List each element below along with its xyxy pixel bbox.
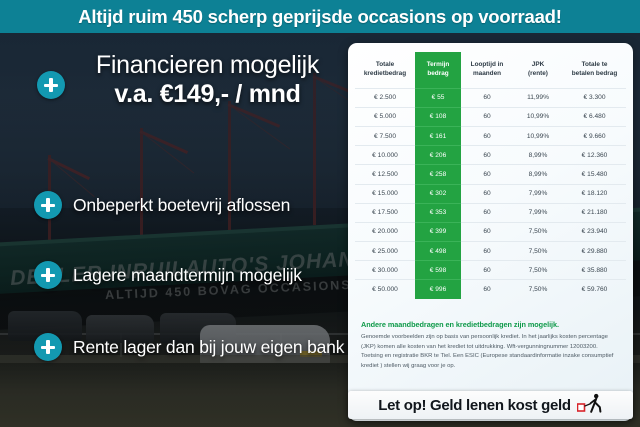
table-cell: 7,50% [513, 242, 563, 261]
table-cell: € 30.000 [355, 261, 415, 280]
table-column-header: Totale tebetalen bedrag [563, 52, 626, 88]
table-cell: € 302 [415, 184, 461, 203]
table-row: € 50.000€ 996607,50%€ 59.760 [355, 280, 626, 299]
benefit-label: Rente lager dan bij jouw eigen bank [73, 337, 344, 358]
table-cell: € 9.660 [563, 126, 626, 145]
table-cell: 60 [461, 280, 513, 299]
headline-line-1: Financieren mogelijk [70, 51, 345, 79]
table-cell: € 10.000 [355, 146, 415, 165]
headline-block: Financieren mogelijk v.a. €149,- / mnd [70, 51, 345, 110]
table-cell: 60 [461, 242, 513, 261]
table-cell: 60 [461, 203, 513, 222]
table-cell: € 5.000 [355, 107, 415, 126]
table-row: € 5.000€ 1086010,99%€ 6.480 [355, 107, 626, 126]
loan-warning-text: Let op! Geld lenen kost geld [378, 397, 570, 414]
table-row: € 30.000€ 598607,50%€ 35.880 [355, 261, 626, 280]
table-row: € 7.500€ 1616010,99%€ 9.660 [355, 126, 626, 145]
disclaimer-body: Genoemde voorbeelden zijn op basis van p… [361, 333, 619, 372]
table-cell: € 15.480 [563, 165, 626, 184]
table-cell: € 353 [415, 203, 461, 222]
table-cell: € 35.880 [563, 261, 626, 280]
table-cell: 10,99% [513, 107, 563, 126]
table-cell: € 258 [415, 165, 461, 184]
table-cell: 7,50% [513, 261, 563, 280]
table-cell: 7,99% [513, 203, 563, 222]
table-cell: € 15.000 [355, 184, 415, 203]
table-cell: € 25.000 [355, 242, 415, 261]
table-cell: € 12.500 [355, 165, 415, 184]
table-cell: 60 [461, 146, 513, 165]
table-cell: € 6.480 [563, 107, 626, 126]
advertisement-banner: Altijd ruim 450 scherp geprijsde occasio… [0, 0, 640, 427]
table-cell: € 21.180 [563, 203, 626, 222]
table-cell: 60 [461, 88, 513, 107]
table-cell: € 20.000 [355, 222, 415, 241]
table-cell: 11,99% [513, 88, 563, 107]
table-cell: 8,99% [513, 146, 563, 165]
table-cell: € 59.760 [563, 280, 626, 299]
plus-icon [34, 333, 62, 361]
table-cell: € 12.360 [563, 146, 626, 165]
table-header-row: TotalekredietbedragTermijnbedragLooptijd… [355, 52, 626, 88]
table-cell: 60 [461, 126, 513, 145]
table-row: € 17.500€ 353607,99%€ 21.180 [355, 203, 626, 222]
table-cell: € 7.500 [355, 126, 415, 145]
table-cell: € 598 [415, 261, 461, 280]
table-cell: € 206 [415, 146, 461, 165]
benefit-label: Onbeperkt boetevrij aflossen [73, 195, 290, 216]
table-row: € 20.000€ 399607,50%€ 23.940 [355, 222, 626, 241]
top-headline-text: Altijd ruim 450 scherp geprijsde occasio… [78, 6, 562, 28]
table-cell: 10,99% [513, 126, 563, 145]
disclaimer-block: Andere maandbedragen en kredietbedragen … [361, 320, 619, 372]
left-content-panel: Financieren mogelijk v.a. €149,- / mnd O… [0, 33, 348, 427]
plus-icon [37, 71, 65, 99]
table-body: € 2.500€ 556011,99%€ 3.300€ 5.000€ 10860… [355, 88, 626, 299]
benefit-item-3: Rente lager dan bij jouw eigen bank [34, 333, 344, 361]
table-row: € 10.000€ 206608,99%€ 12.360 [355, 146, 626, 165]
finance-table-card: TotalekredietbedragTermijnbedragLooptijd… [348, 43, 633, 421]
table-cell: 8,99% [513, 165, 563, 184]
table-cell: 60 [461, 107, 513, 126]
headline-line-2: v.a. €149,- / mnd [70, 79, 345, 110]
table-cell: € 3.300 [563, 88, 626, 107]
table-cell: 7,50% [513, 280, 563, 299]
table-cell: € 399 [415, 222, 461, 241]
table-cell: 60 [461, 184, 513, 203]
disclaimer-title: Andere maandbedragen en kredietbedragen … [361, 320, 619, 329]
table-cell: € 161 [415, 126, 461, 145]
table-cell: € 996 [415, 280, 461, 299]
finance-table-wrapper: TotalekredietbedragTermijnbedragLooptijd… [355, 52, 626, 299]
table-cell: 7,99% [513, 184, 563, 203]
table-row: € 15.000€ 302607,99%€ 18.120 [355, 184, 626, 203]
table-cell: € 18.120 [563, 184, 626, 203]
table-row: € 2.500€ 556011,99%€ 3.300 [355, 88, 626, 107]
table-column-header: Looptijd inmaanden [461, 52, 513, 88]
table-cell: € 29.880 [563, 242, 626, 261]
table-cell: € 55 [415, 88, 461, 107]
loan-warning-bar: Let op! Geld lenen kost geld [348, 391, 633, 419]
table-row: € 25.000€ 498607,50%€ 29.880 [355, 242, 626, 261]
table-column-header: Termijnbedrag [415, 52, 461, 88]
benefit-label: Lagere maandtermijn mogelijk [73, 265, 302, 286]
table-cell: € 108 [415, 107, 461, 126]
plus-icon [34, 191, 62, 219]
table-cell: 7,50% [513, 222, 563, 241]
table-cell: € 23.940 [563, 222, 626, 241]
table-row: € 12.500€ 258608,99%€ 15.480 [355, 165, 626, 184]
benefit-item-1: Onbeperkt boetevrij aflossen [34, 191, 290, 219]
table-cell: € 2.500 [355, 88, 415, 107]
table-cell: € 50.000 [355, 280, 415, 299]
table-cell: 60 [461, 261, 513, 280]
top-headline-bar: Altijd ruim 450 scherp geprijsde occasio… [0, 0, 640, 33]
benefit-item-2: Lagere maandtermijn mogelijk [34, 261, 302, 289]
table-cell: € 17.500 [355, 203, 415, 222]
table-cell: 60 [461, 222, 513, 241]
finance-table: TotalekredietbedragTermijnbedragLooptijd… [355, 52, 626, 299]
table-cell: 60 [461, 165, 513, 184]
table-column-header: Totalekredietbedrag [355, 52, 415, 88]
table-column-header: JPK(rente) [513, 52, 563, 88]
table-cell: € 498 [415, 242, 461, 261]
man-pulling-block-icon [577, 393, 603, 418]
plus-icon [34, 261, 62, 289]
